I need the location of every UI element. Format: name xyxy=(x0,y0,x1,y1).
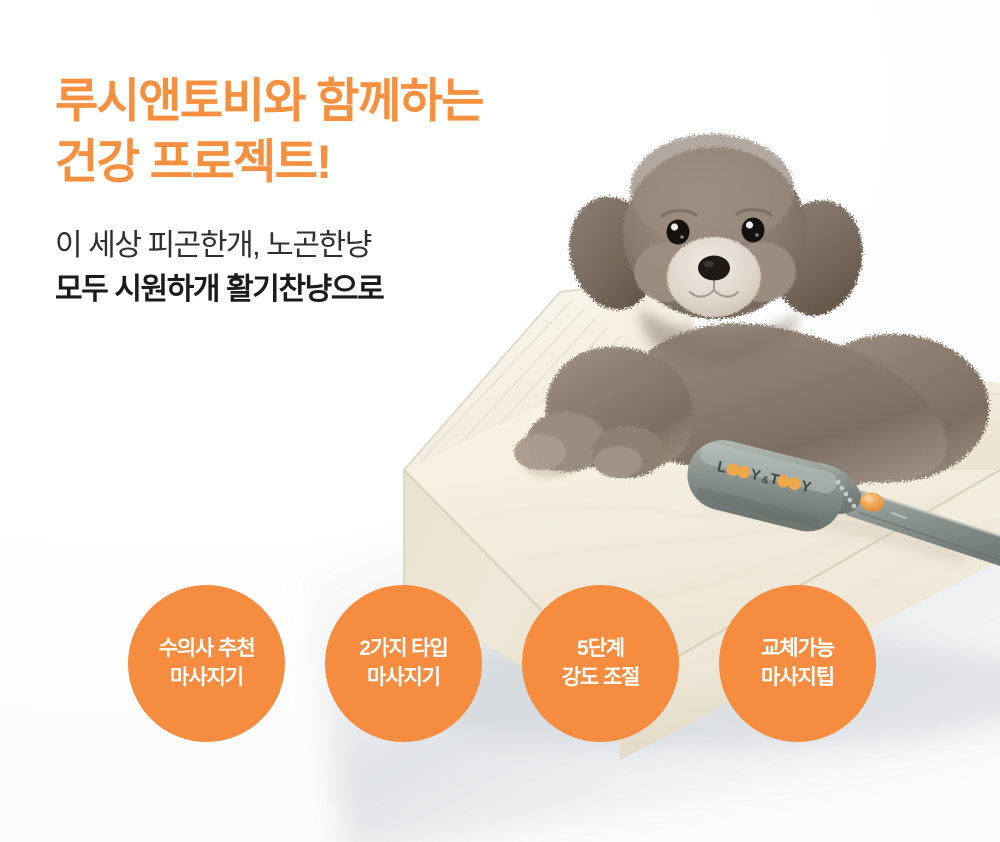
headline-block: 루시앤토비와 함께하는 건강 프로젝트! 이 세상 피곤한개, 노곤한냥 모두 … xyxy=(55,70,595,311)
badge-line-2: 마사지팁 xyxy=(761,664,834,692)
badge-line-1: 2가지 타입 xyxy=(359,635,447,663)
badge-line-2: 강도 조절 xyxy=(562,664,640,692)
feature-badge-vet-recommended[interactable]: 수의사 추천 마사지기 xyxy=(128,585,285,742)
subheadline-line-1: 이 세상 피곤한개, 노곤한냥 xyxy=(55,224,595,268)
badge-line-1: 수의사 추천 xyxy=(159,635,255,663)
subheadline-line-2: 모두 시원하개 활기찬냥으로 xyxy=(55,268,595,312)
badge-line-1: 5단계 xyxy=(577,635,624,663)
feature-badge-list: 수의사 추천 마사지기 2가지 타입 마사지기 5단계 강도 조절 교체가능 마… xyxy=(128,585,876,742)
feature-badge-five-levels[interactable]: 5단계 강도 조절 xyxy=(522,585,679,742)
subheadline-block: 이 세상 피곤한개, 노곤한냥 모두 시원하개 활기찬냥으로 xyxy=(55,192,595,311)
badge-line-2: 마사지기 xyxy=(367,664,440,692)
page-title: 루시앤토비와 함께하는 건강 프로젝트! xyxy=(55,70,595,192)
feature-badge-replaceable-tip[interactable]: 교체가능 마사지팁 xyxy=(719,585,876,742)
feature-badge-two-types[interactable]: 2가지 타입 마사지기 xyxy=(325,585,482,742)
badge-line-2: 마사지기 xyxy=(170,664,243,692)
badge-line-1: 교체가능 xyxy=(761,635,834,663)
banner-canvas: L Y & T Y xyxy=(0,0,1000,842)
